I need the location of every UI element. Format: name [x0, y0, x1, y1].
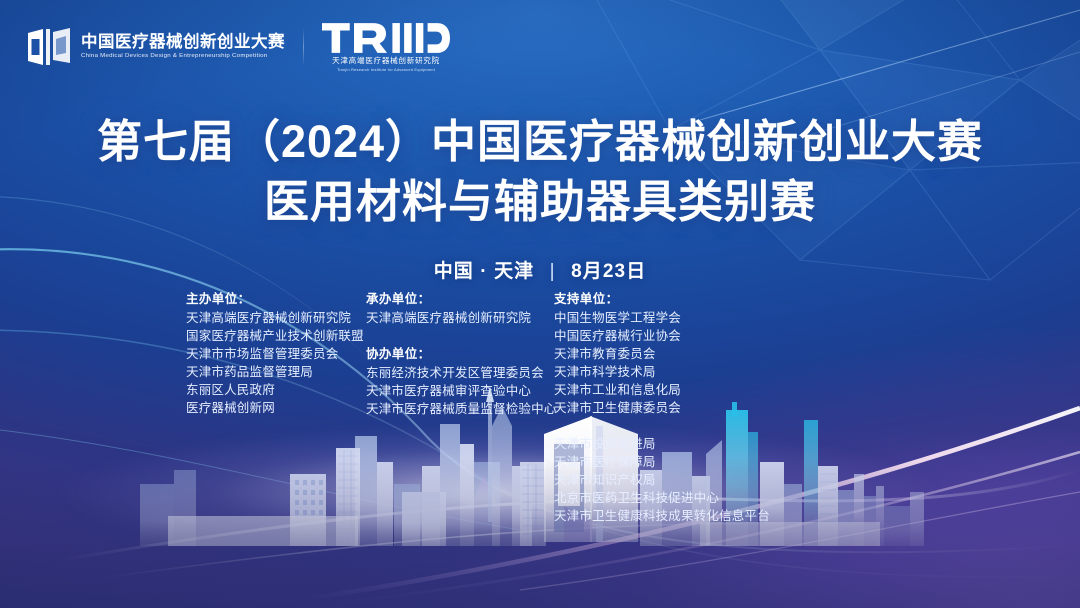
poster-title-block: 第七届（2024）中国医疗器械创新创业大赛 医用材料与辅助器具类别赛	[0, 116, 1080, 228]
triid-title-cn: 天津高端医疗器械创新研究院	[332, 57, 440, 65]
undertaker-coorganizer-column: 承办单位： 天津高端医疗器械创新研究院 协办单位： 东丽经济技术开发区管理委员会…	[366, 290, 554, 418]
host-heading: 主办单位：	[186, 290, 366, 308]
host-item: 医疗器械创新网	[186, 399, 366, 417]
supporter-item: 中国医疗器械行业协会	[554, 327, 689, 345]
coorganizer-item: 东丽经济技术开发区管理委员会	[366, 364, 554, 382]
logo-row: 中国医疗器械创新创业大赛 China Medical Devices Desig…	[26, 22, 450, 72]
supporter-item: 天津市科学技术局	[554, 363, 689, 381]
supporter-subcolumn-right: 天津市投资促进局 天津市医疗保障局 天津市知识产权局 北京市医药卫生科技促进中心…	[554, 417, 754, 525]
meta-separator: |	[550, 261, 556, 283]
triid-title-en: Tianjin Research Institute for Advanced …	[337, 68, 435, 72]
undertaker-heading: 承办单位：	[366, 290, 554, 308]
poster-canvas: 中国医疗器械创新创业大赛 China Medical Devices Desig…	[0, 0, 1080, 608]
column-spacer	[366, 327, 554, 345]
host-item: 天津市药品监督管理局	[186, 363, 366, 381]
triid-wordmark-icon	[322, 22, 450, 54]
supporter-item: 天津市卫生健康科技成果转化信息平台	[554, 507, 754, 525]
logo-title-cn: 中国医疗器械创新创业大赛	[81, 34, 285, 51]
column-spacer	[554, 417, 754, 435]
triid-logo: 天津高端医疗器械创新研究院 Tianjin Research Institute…	[322, 22, 450, 72]
supporter-heading: 支持单位：	[554, 290, 689, 308]
open-door-logo-icon	[26, 27, 72, 67]
supporter-column: 支持单位： 中国生物医学工程学会 中国医疗器械行业协会 天津市教育委员会 天津市…	[554, 290, 754, 525]
poster-title-line1: 第七届（2024）中国医疗器械创新创业大赛	[0, 116, 1080, 168]
supporter-item: 天津市工业和信息化局	[554, 381, 689, 399]
logo-divider	[303, 28, 304, 66]
host-item: 天津市市场监督管理委员会	[186, 345, 366, 363]
organizers-block: 主办单位： 天津高端医疗器械创新研究院 国家医疗器械产业技术创新联盟 天津市市场…	[186, 290, 754, 525]
supporter-item: 天津市投资促进局	[554, 435, 754, 453]
supporter-subcolumn-left: 支持单位： 中国生物医学工程学会 中国医疗器械行业协会 天津市教育委员会 天津市…	[554, 290, 689, 417]
supporter-item: 中国生物医学工程学会	[554, 309, 689, 327]
host-item: 天津高端医疗器械创新研究院	[186, 309, 366, 327]
logo-text-block: 中国医疗器械创新创业大赛 China Medical Devices Desig…	[81, 34, 285, 60]
supporter-item: 天津市卫生健康委员会	[554, 399, 689, 417]
logo-title-en: China Medical Devices Design & Entrepren…	[81, 53, 285, 59]
event-date: 8月23日	[571, 261, 646, 282]
host-item: 东丽区人民政府	[186, 381, 366, 399]
coorganizer-heading: 协办单位：	[366, 345, 554, 363]
coorganizer-item: 天津市医疗器械质量监督检验中心	[366, 400, 554, 418]
poster-title-line2: 医用材料与辅助器具类别赛	[0, 176, 1080, 228]
event-location: 中国 · 天津	[434, 261, 535, 282]
host-item: 国家医疗器械产业技术创新联盟	[186, 327, 366, 345]
event-meta-line: 中国 · 天津 | 8月23日	[0, 256, 1080, 283]
coorganizer-item: 天津市医疗器械审评查验中心	[366, 382, 554, 400]
supporter-item: 天津市医疗保障局	[554, 453, 754, 471]
undertaker-item: 天津高端医疗器械创新研究院	[366, 309, 554, 327]
host-column: 主办单位： 天津高端医疗器械创新研究院 国家医疗器械产业技术创新联盟 天津市市场…	[186, 290, 366, 417]
supporter-item: 北京市医药卫生科技促进中心	[554, 489, 754, 507]
china-medical-devices-competition-logo: 中国医疗器械创新创业大赛 China Medical Devices Desig…	[26, 27, 285, 67]
supporter-item: 天津市教育委员会	[554, 345, 689, 363]
supporter-item: 天津市知识产权局	[554, 471, 754, 489]
